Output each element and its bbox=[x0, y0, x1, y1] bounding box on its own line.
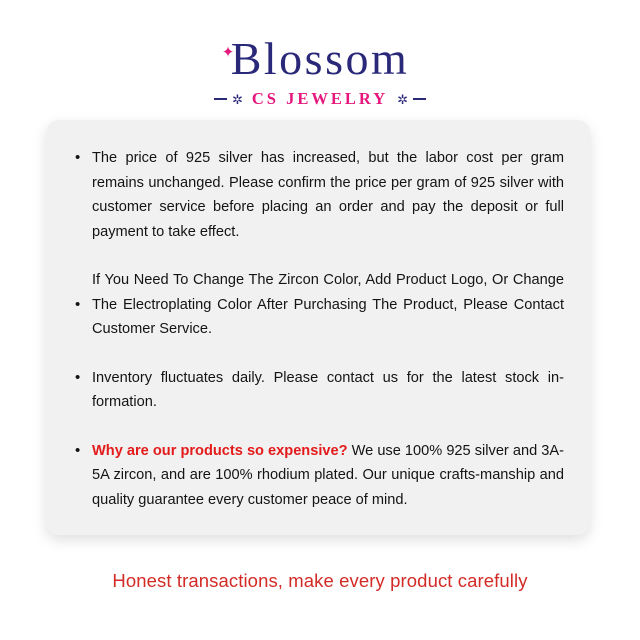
footer-slogan: Honest transactions, make every product … bbox=[0, 568, 640, 594]
notice-bullet-icon: • bbox=[75, 146, 80, 171]
notice-item: •If You Need To Change The Zircon Color,… bbox=[64, 268, 572, 342]
brand-header: ✦ Blossom ✲ CS JEWELRY ✲ bbox=[0, 34, 640, 109]
ornament-left-icon: ✲ bbox=[232, 93, 243, 106]
rule-right-icon bbox=[413, 98, 426, 100]
notice-body-text: Inventory fluctuates daily. Please conta… bbox=[92, 370, 564, 411]
notice-highlight-text: Why are our products so expensive? bbox=[92, 443, 348, 459]
brand-subtitle-text: CS JEWELRY bbox=[248, 90, 392, 108]
notice-bullet-icon: • bbox=[75, 439, 80, 464]
notice-bullet-icon: • bbox=[75, 366, 80, 391]
notice-item: •The price of 925 silver has increased, … bbox=[64, 146, 572, 244]
rule-left-icon bbox=[214, 98, 227, 100]
notice-bullet-icon: • bbox=[75, 300, 80, 310]
sparkle-icon: ✦ bbox=[222, 46, 237, 61]
brand-subtitle-row: ✲ CS JEWELRY ✲ bbox=[0, 89, 640, 109]
notice-item: •Why are our products so expensive? We u… bbox=[64, 439, 572, 513]
ornament-right-icon: ✲ bbox=[397, 93, 408, 106]
notice-body-text: If You Need To Change The Zircon Color, … bbox=[92, 272, 564, 337]
brand-title-text: Blossom bbox=[231, 33, 410, 84]
notice-body-text: The price of 925 silver has increased, b… bbox=[92, 150, 564, 240]
notice-list: •The price of 925 silver has increased, … bbox=[64, 146, 572, 512]
brand-title: ✦ Blossom bbox=[231, 34, 410, 84]
notice-item: •Inventory fluctuates daily. Please cont… bbox=[64, 366, 572, 415]
notice-card: •The price of 925 silver has increased, … bbox=[46, 120, 590, 535]
